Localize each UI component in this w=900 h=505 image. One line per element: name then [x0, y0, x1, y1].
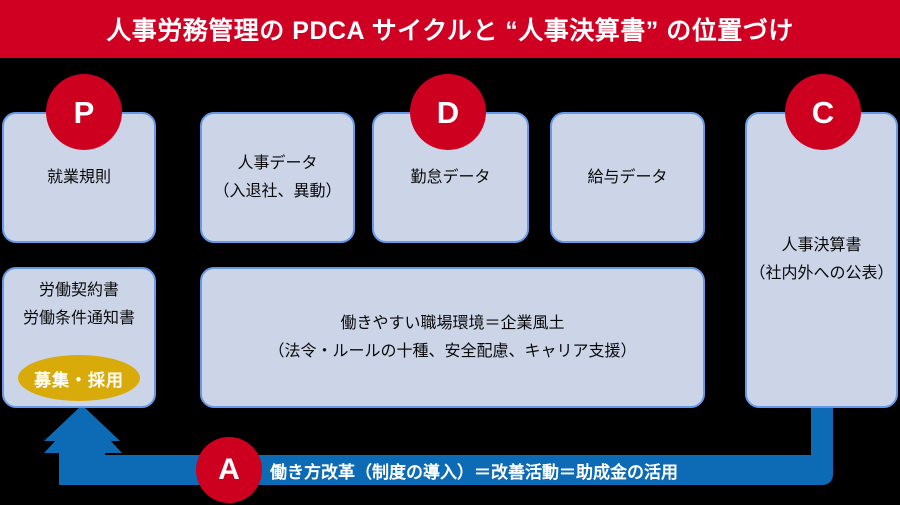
- box-work-rules-line-1: 就業規則: [47, 164, 111, 192]
- recruitment-highlight-badge[interactable]: 募集・採用: [18, 355, 140, 401]
- pdca-marker-check: C: [785, 74, 861, 150]
- action-bar-label: 働き方改革（制度の導入）＝改善活動＝助成金の活用: [65, 455, 678, 485]
- box-workplace-environment[interactable]: 働きやすい職場環境＝企業風土 （法令・ルールの十種、安全配慮、キャリア支援）: [200, 267, 705, 408]
- box-labor-contract-line-2: 労働条件通知書: [23, 305, 135, 333]
- box-hr-financial-report[interactable]: 人事決算書 （社内外への公表）: [745, 112, 898, 408]
- box-payroll-data[interactable]: 給与データ: [550, 112, 705, 243]
- box-workplace-environment-line-1: 働きやすい職場環境＝企業風土: [340, 310, 564, 338]
- box-hr-financial-report-line-1: 人事決算書: [781, 232, 861, 260]
- title-banner: 人事労務管理の PDCA サイクルと “人事決算書” の位置づけ: [0, 0, 900, 58]
- pdca-marker-do: D: [410, 74, 486, 150]
- diagram-canvas: 人事労務管理の PDCA サイクルと “人事決算書” の位置づけ 働き方改革（制…: [0, 0, 900, 505]
- page-title: 人事労務管理の PDCA サイクルと “人事決算書” の位置づけ: [106, 11, 793, 47]
- box-workplace-environment-line-2: （法令・ルールの十種、安全配慮、キャリア支援）: [268, 338, 636, 366]
- box-hr-data-line-2: （入退社、異動）: [213, 178, 341, 206]
- box-payroll-data-line-1: 給与データ: [587, 164, 667, 192]
- box-hr-data[interactable]: 人事データ （入退社、異動）: [200, 112, 355, 243]
- box-attendance-data-line-1: 勤怠データ: [410, 164, 490, 192]
- box-hr-financial-report-line-2: （社内外への公表）: [749, 260, 893, 288]
- box-labor-contract-line-1: 労働契約書: [39, 277, 119, 305]
- box-hr-data-line-1: 人事データ: [237, 150, 317, 178]
- pdca-marker-plan: P: [46, 74, 122, 150]
